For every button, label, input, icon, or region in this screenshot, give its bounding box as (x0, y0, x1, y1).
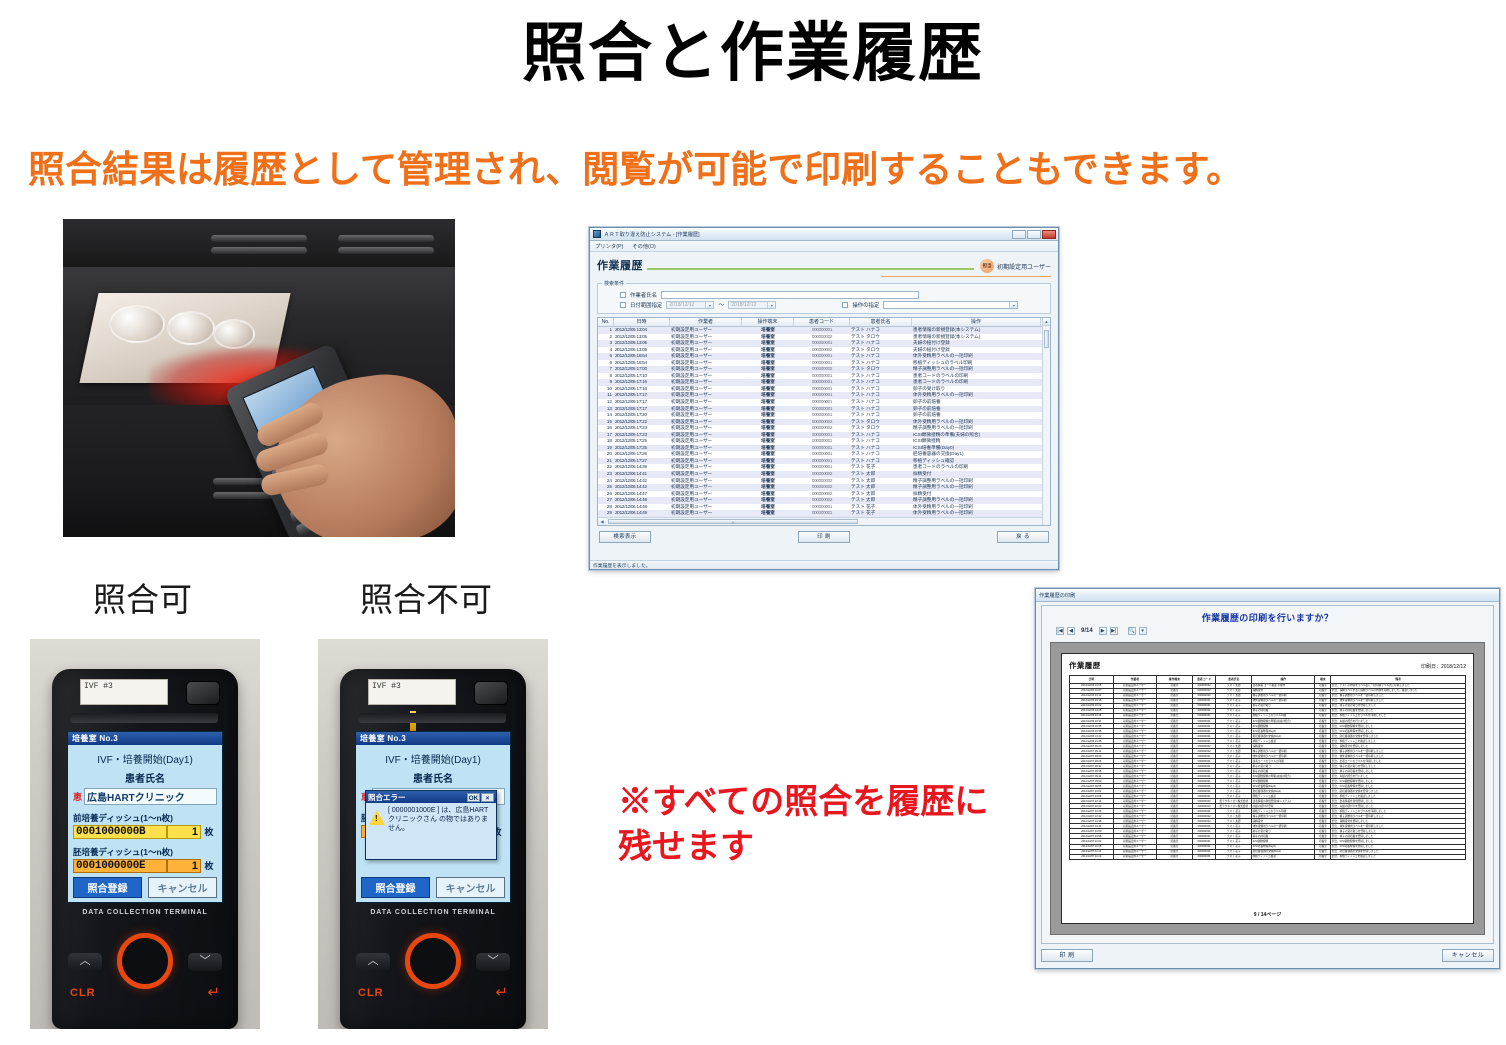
window-title: ＡＲＴ取り違え防止システム - [作業履歴] (604, 231, 700, 238)
device-brand-label: DATA COLLECTION TERMINAL (340, 909, 526, 916)
red-annotation-note: ※すべての照合を履歴に残せます (618, 780, 1018, 870)
document-col-header: 端末 (1315, 676, 1331, 684)
grid-vertical-scrollbar[interactable]: ▲ (1042, 318, 1050, 525)
document-table-body: 2012/12/06 16:05初期設定用ユーザー培養室000000002テスト… (1070, 684, 1466, 860)
screen-field2-unit: 枚 (201, 859, 217, 873)
history-body: 作業履歴 担当 初期設定用ユーザー 検索条件 作業者氏名 日付範囲指定 2018… (590, 252, 1058, 543)
device-photo-match-ng: IVF #3 培養室 No.3 IVF・培養開始(Day1) 患者氏名 恵 広島… (318, 639, 548, 1029)
operation-select[interactable]: ▾ (883, 301, 1018, 309)
document-col-header: 患者氏名 (1216, 676, 1252, 684)
grid-col-datetime[interactable]: 日時 (614, 318, 670, 326)
device-brand-label: DATA COLLECTION TERMINAL (52, 909, 238, 916)
app-icon (593, 230, 601, 238)
screen-button-row: 照合登録 キャンセル (73, 877, 217, 898)
device-enter-key[interactable]: ↵ (495, 983, 508, 1001)
screen-operation-title: IVF・培養開始(Day1) (68, 751, 222, 766)
screen-register-button[interactable]: 照合登録 (361, 877, 430, 898)
screen-cancel-button[interactable]: キャンセル (148, 877, 217, 898)
search-icon[interactable]: 🔍 (1128, 627, 1136, 635)
screen-field2-label: 胚培養ディッシュ(1～n枚) (73, 846, 222, 858)
photo-petri-dish (213, 319, 255, 349)
print-confirm-question: 作業履歴の印刷を行いますか？ (1042, 606, 1493, 627)
scroll-thumb[interactable] (1044, 330, 1049, 348)
screen-field1-code[interactable]: 0001000000B (73, 825, 167, 839)
worker-filter-row: 作業者氏名 (620, 291, 1046, 299)
document-cell: 照合、移植ディッシュを確認しました (1331, 854, 1466, 859)
scroll-thumb[interactable]: ≡ (608, 519, 858, 524)
document-cell: テスト 花子 (1216, 854, 1252, 859)
print-dialog-buttons: 印 刷 キャンセル (1041, 947, 1494, 964)
screen-register-button[interactable]: 照合登録 (73, 877, 142, 898)
search-display-button[interactable]: 検索表示 (599, 531, 651, 543)
device-photo-match-ok: IVF #3 培養室 No.3 IVF・培養開始(Day1) 患者氏名 恵 広島… (30, 639, 260, 1029)
worker-filter-label: 作業者氏名 (630, 291, 657, 299)
photo-petri-dish (167, 311, 215, 345)
screen-patient-label: 患者氏名 (356, 770, 510, 785)
document-cell: 初期設定用ユーザー (1113, 854, 1157, 859)
date-filter-checkbox[interactable] (620, 302, 626, 308)
device-top-label: IVF #3 (368, 679, 456, 705)
print-preview-window: 作業履歴の印刷 作業履歴の印刷を行いますか？ |◀ ◀ 9/14 ▶ ▶| 🔍 … (1035, 588, 1500, 969)
device-slot (70, 713, 218, 723)
history-header: 作業履歴 担当 初期設定用ユーザー (597, 257, 1051, 273)
screen-button-row: 照合登録 キャンセル (361, 877, 505, 898)
search-conditions-group: 検索条件 作業者氏名 日付範囲指定 2018/12/12 ▾ ～ 2018/12… (597, 280, 1051, 314)
screen-field2-qty[interactable]: 1 (167, 859, 201, 873)
operation-filter-checkbox[interactable] (842, 302, 848, 308)
next-page-button[interactable]: ▶ (1099, 627, 1107, 635)
grid-col-no[interactable]: No. (598, 318, 614, 326)
device-up-key[interactable]: ︿ (68, 953, 102, 971)
warning-icon (369, 810, 385, 825)
screen-titlebar: 培養室 No.3 (356, 732, 510, 745)
preview-toolbar: |◀ ◀ 9/14 ▶ ▶| 🔍 ▾ (1042, 627, 1493, 638)
device-scanner-window (474, 681, 508, 705)
device-up-key[interactable]: ︿ (356, 953, 390, 971)
screen-cancel-button[interactable]: キャンセル (436, 877, 505, 898)
search-conditions-legend: 検索条件 (602, 280, 626, 287)
work-history-window: ＡＲＴ取り違え防止システム - [作業履歴] プリンタ(P) その他(O) 作業… (589, 227, 1059, 570)
screen-titlebar: 培養室 No.3 (68, 732, 222, 745)
photo-petri-dish (109, 305, 165, 343)
photo-vent (338, 247, 434, 254)
preview-page: 作業履歴 印刷日：2018/12/12 日時作業者操作端末患者コード患者氏名操作… (1061, 653, 1474, 924)
worker-filter-checkbox[interactable] (620, 292, 626, 298)
photo-scanning-incubator (63, 219, 455, 537)
caption-match-ng: 照合不可 (360, 573, 492, 621)
error-dialog-ok-button[interactable]: OK (467, 793, 480, 802)
device-clr-key[interactable]: CLR (358, 987, 384, 999)
device-dial-key[interactable] (405, 933, 461, 989)
screen-field1-row: 0001000000B 1 枚 (73, 825, 217, 839)
menu-item-other[interactable]: その他(O) (632, 242, 656, 250)
date-from-input[interactable]: 2018/12/12 ▾ (666, 301, 714, 309)
photo-vent (211, 235, 307, 242)
error-dialog-body: [ 0000001000E ] は、広島HARTクリニックさん の物ではありませ… (366, 803, 496, 837)
document-cell: 培養室 (1315, 854, 1331, 859)
chevron-down-icon[interactable]: ▾ (705, 302, 713, 308)
user-name: 初期設定用ユーザー (997, 262, 1051, 271)
grid-col-worker[interactable]: 作業者 (670, 318, 742, 326)
device-slot (358, 713, 506, 723)
screen-field2-code[interactable]: 0001000000E (73, 859, 167, 873)
photo-vent (338, 235, 434, 242)
device-navpad: ︿ ﹀ CLR ↵ (340, 927, 526, 1005)
grid-col-terminal[interactable]: 操作端末 (742, 318, 794, 326)
worker-name-input[interactable] (661, 291, 919, 299)
date-to-value: 2018/12/12 (731, 302, 756, 308)
print-preview-inner: 作業履歴の印刷を行いますか？ |◀ ◀ 9/14 ▶ ▶| 🔍 ▾ 作業履歴 印… (1041, 605, 1494, 944)
window-titlebar[interactable]: ＡＲＴ取り違え防止システム - [作業履歴] (590, 228, 1058, 241)
print-cancel-button[interactable]: キャンセル (1442, 949, 1494, 962)
print-window-title: 作業履歴の印刷 (1039, 592, 1075, 599)
document-table: 日時作業者操作端末患者コード患者氏名操作端末備考 2012/12/06 16:0… (1069, 675, 1466, 860)
heading-underline (647, 268, 974, 270)
error-dialog-titlebar: 照合エラー OK × (366, 791, 496, 803)
maximize-button[interactable] (1027, 230, 1041, 239)
grid-col-patient-name[interactable]: 患者氏名 (850, 318, 912, 326)
device-body: IVF #3 培養室 No.3 IVF・培養開始(Day1) 患者氏名 恵 広島… (52, 669, 238, 1029)
grid-col-operation[interactable]: 操作 (912, 318, 1041, 326)
date-from-value: 2018/12/12 (669, 302, 694, 308)
date-range-separator: ～ (718, 300, 724, 309)
page-subtitle: 照合結果は履歴として管理され、閲覧が可能で印刷することもできます。 (28, 139, 1243, 193)
screen-field1-qty[interactable]: 1 (167, 825, 201, 839)
page-indicator: 9/14 (1078, 628, 1096, 634)
document-title: 作業履歴 (1069, 660, 1101, 671)
match-error-dialog: 照合エラー OK × [ 0000001000E ] は、広島HARTクリニック… (365, 790, 497, 860)
document-cell: 000000001 (1192, 854, 1216, 859)
document-print-date: 印刷日：2018/12/12 (1421, 663, 1466, 670)
device-navpad: ︿ ﹀ CLR ↵ (52, 927, 238, 1005)
error-dialog-title: 照合エラー (368, 792, 466, 803)
page-title: 照合と作業履歴 (0, 18, 1506, 88)
chevron-down-icon[interactable]: ▾ (1139, 627, 1147, 635)
print-button[interactable]: 印 刷 (798, 531, 850, 543)
photo-shelf (63, 219, 455, 271)
device-screen: 培養室 No.3 IVF・培養開始(Day1) 患者氏名 恵 広島HARTクリニ… (67, 731, 223, 903)
document-footer: 9 / 14ページ (1062, 911, 1473, 918)
device-top-label: IVF #3 (80, 679, 168, 705)
screen-operation-title: IVF・培養開始(Day1) (356, 751, 510, 766)
operation-filter-label: 操作の指定 (852, 301, 879, 309)
print-window-titlebar[interactable]: 作業履歴の印刷 (1036, 589, 1499, 602)
document-cell: 2012/12/07 11:20 (1070, 854, 1114, 859)
grid-col-patient-code[interactable]: 患者コード (794, 318, 850, 326)
device-dial-key[interactable] (117, 933, 173, 989)
grid-header-row: No. 日時 作業者 操作端末 患者コード 患者氏名 操作 ▾ (598, 318, 1050, 327)
document-header: 作業履歴 印刷日：2018/12/12 (1069, 660, 1466, 671)
user-underline (881, 276, 1051, 277)
device-clr-key[interactable]: CLR (70, 987, 96, 999)
device-scanner-window (186, 681, 220, 705)
device-enter-key[interactable]: ↵ (207, 983, 220, 1001)
device-body: IVF #3 培養室 No.3 IVF・培養開始(Day1) 患者氏名 恵 広島… (340, 669, 526, 1029)
document-col-header: 操作 (1252, 676, 1315, 684)
caption-match-ok: 照合可 (93, 573, 192, 621)
error-dialog-message: [ 0000001000E ] は、広島HARTクリニックさん の物ではありませ… (388, 807, 493, 833)
scroll-up-icon[interactable]: ▲ (1043, 318, 1050, 326)
error-dialog-close-icon[interactable]: × (481, 793, 494, 802)
first-page-button[interactable]: |◀ (1056, 627, 1064, 635)
date-to-input[interactable]: 2018/12/12 ▾ (728, 301, 776, 309)
print-confirm-button[interactable]: 印 刷 (1041, 949, 1093, 962)
current-user: 担当 初期設定用ユーザー (980, 259, 1051, 273)
patient-mark-icon: 恵 (73, 790, 82, 803)
date-filter-row: 日付範囲指定 2018/12/12 ▾ ～ 2018/12/12 ▾ 操作の指定… (620, 300, 1046, 309)
scroll-left-icon[interactable]: ◀ (598, 518, 606, 525)
document-col-header: 作業者 (1113, 676, 1157, 684)
screen-patient-row: 恵 広島HARTクリニック (73, 788, 217, 805)
close-icon[interactable] (1042, 230, 1056, 239)
menu-item-printer[interactable]: プリンタ(P) (595, 242, 623, 250)
chevron-down-icon[interactable]: ▾ (767, 302, 775, 308)
prev-page-button[interactable]: ◀ (1067, 627, 1075, 635)
screen-field1-label: 前培養ディッシュ(1～n枚) (73, 812, 222, 824)
history-heading: 作業履歴 (597, 257, 643, 273)
back-button[interactable]: 戻 る (997, 531, 1049, 543)
document-cell: 移植ディッシュ確認 (1252, 854, 1315, 859)
document-col-header: 操作端末 (1157, 676, 1193, 684)
document-table-row: 2012/12/07 11:20初期設定用ユーザー培養室000000001テスト… (1070, 854, 1466, 859)
photo-vent (211, 247, 307, 254)
document-col-header: 備考 (1331, 676, 1466, 684)
status-bar: 作業履歴を表示しました。 (590, 560, 1058, 569)
history-grid: No. 日時 作業者 操作端末 患者コード 患者氏名 操作 ▾ 12012/12… (597, 317, 1051, 526)
screen-field2-row: 0001000000E 1 枚 (73, 859, 217, 873)
last-page-button[interactable]: ▶| (1110, 627, 1118, 635)
date-filter-label: 日付範囲指定 (630, 301, 662, 309)
document-cell: 培養室 (1157, 854, 1193, 859)
grid-rows: 12012/12/05 13:04初期設定用ユーザー培養室000000001テス… (598, 327, 1050, 517)
document-table-header: 日時作業者操作端末患者コード患者氏名操作端末備考 (1070, 676, 1466, 684)
user-badge: 担当 (980, 259, 994, 273)
chevron-down-icon[interactable]: ▾ (1009, 302, 1017, 308)
device-screen: 培養室 No.3 IVF・培養開始(Day1) 患者氏名 恵 広島HARTクリニ… (355, 731, 511, 903)
grid-horizontal-scrollbar[interactable]: ◀ ≡ ▶ (598, 517, 1050, 525)
preview-canvas: 作業履歴 印刷日：2018/12/12 日時作業者操作端末患者コード患者氏名操作… (1050, 642, 1485, 935)
history-button-bar: 検索表示 印 刷 戻 る (597, 531, 1051, 543)
window-menubar: プリンタ(P) その他(O) (590, 241, 1058, 252)
device-down-key[interactable]: ﹀ (188, 953, 222, 971)
screen-patient-label: 患者氏名 (68, 770, 222, 785)
minimize-button[interactable] (1012, 230, 1026, 239)
screen-patient-name: 広島HARTクリニック (84, 788, 217, 805)
document-col-header: 患者コード (1192, 676, 1216, 684)
document-col-header: 日時 (1070, 676, 1114, 684)
window-controls (1012, 230, 1058, 239)
device-down-key[interactable]: ﹀ (476, 953, 510, 971)
screen-field1-unit: 枚 (201, 825, 217, 839)
